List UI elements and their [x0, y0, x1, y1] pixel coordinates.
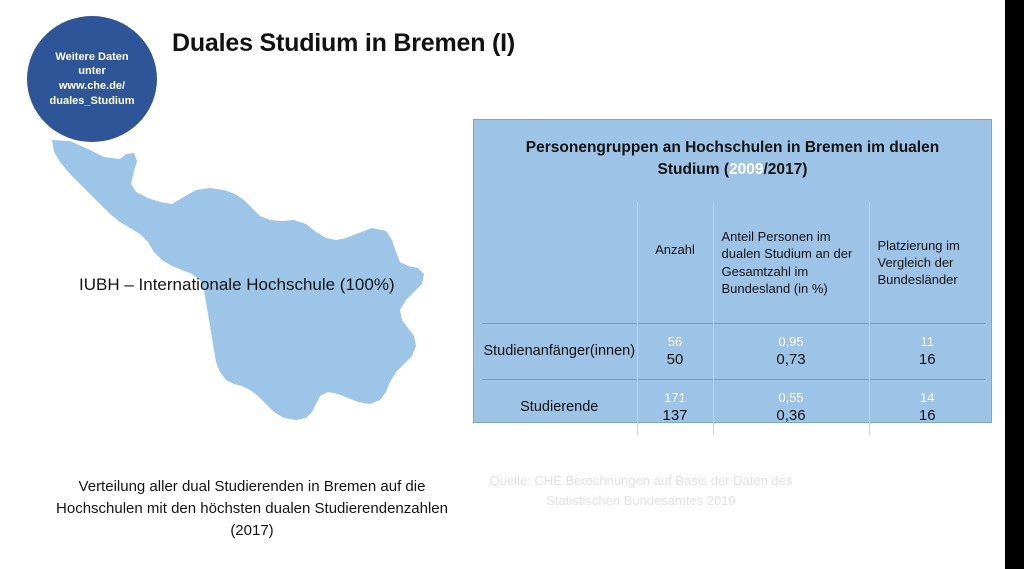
- value-2017: 50: [638, 350, 713, 370]
- right-black-band: [1005, 0, 1024, 569]
- column-header-platzierung: Platzierung im Vergleich der Bundeslände…: [869, 202, 985, 324]
- cell-anteil-studienanfaenger: 0,95 0,73: [713, 324, 869, 380]
- column-header-anzahl: Anzahl: [637, 202, 713, 324]
- cell-platzierung-studierende: 14 16: [869, 380, 985, 436]
- info-badge-text: Weitere Daten unter www.che.de/ duales_S…: [44, 50, 141, 108]
- value-2017: 16: [870, 350, 986, 370]
- cell-platzierung-studienanfaenger: 11 16: [869, 324, 985, 380]
- page-title: Duales Studium in Bremen (I): [172, 29, 515, 58]
- value-2009: 14: [870, 389, 986, 407]
- value-2009: 11: [870, 333, 986, 351]
- value-2009: 0,95: [714, 333, 869, 351]
- table-title-year-2017: 2017: [768, 161, 802, 178]
- statistics-table: Anzahl Anteil Personen im dualen Studium…: [482, 202, 985, 435]
- value-2017: 16: [870, 406, 986, 426]
- cell-anteil-studierende: 0,55 0,36: [713, 380, 869, 436]
- table-title-suffix: ): [802, 161, 807, 178]
- table-row: Studierende 171 137 0,55 0,36 14 16: [482, 380, 985, 436]
- source-note: Quelle: CHE Berechnungen auf Basis der D…: [466, 471, 816, 510]
- value-2009: 56: [638, 333, 713, 351]
- value-2009: 171: [638, 389, 713, 407]
- cell-anzahl-studienanfaenger: 56 50: [637, 324, 713, 380]
- column-header-anteil: Anteil Personen im dualen Studium an der…: [713, 202, 869, 324]
- distribution-caption: Verteilung aller dual Studierenden in Br…: [36, 476, 468, 541]
- row-label-studierende: Studierende: [482, 380, 637, 436]
- column-header-blank: [482, 202, 637, 324]
- table-title-year-2009: 2009: [729, 161, 763, 178]
- table-header-row: Anzahl Anteil Personen im dualen Studium…: [482, 202, 985, 324]
- table-title: Personengruppen an Hochschulen in Bremen…: [496, 137, 969, 181]
- table-row: Studienanfänger(innen) 56 50 0,95 0,73 1…: [482, 324, 985, 380]
- map-institution-label: IUBH – Internationale Hochschule (100%): [79, 275, 395, 295]
- value-2009: 0,55: [714, 389, 869, 407]
- cell-anzahl-studierende: 171 137: [637, 380, 713, 436]
- value-2017: 137: [638, 406, 713, 426]
- statistics-panel: Personengruppen an Hochschulen in Bremen…: [473, 119, 992, 423]
- info-badge-circle[interactable]: Weitere Daten unter www.che.de/ duales_S…: [27, 16, 157, 142]
- row-label-studienanfaenger: Studienanfänger(innen): [482, 324, 637, 380]
- value-2017: 0,73: [714, 350, 869, 370]
- slide-canvas: Duales Studium in Bremen (I) Weitere Dat…: [0, 0, 1005, 569]
- value-2017: 0,36: [714, 406, 869, 426]
